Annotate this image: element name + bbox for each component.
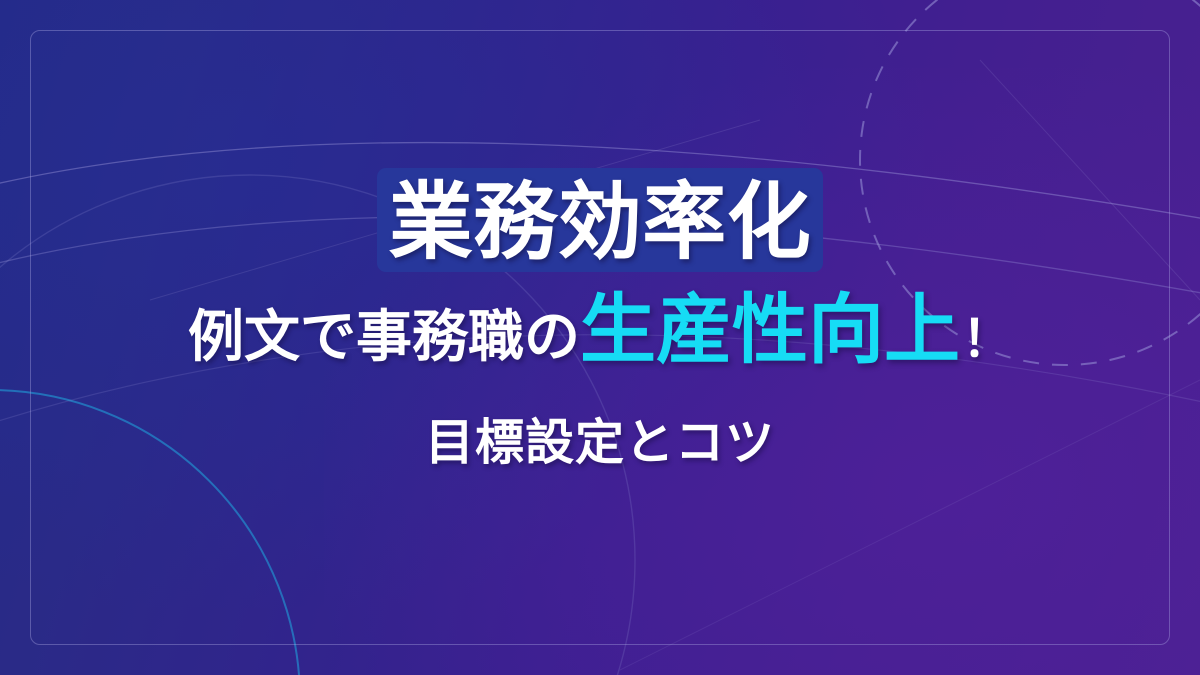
- headline-badge: 業務効率化: [377, 168, 824, 272]
- headline-secondary-exclamation: ！: [962, 314, 1012, 364]
- headline-primary-text: 業務効率化: [389, 180, 812, 264]
- title-block: 業務効率化 例文で事務職の 生産性向上 ！ 目標設定とコツ: [0, 0, 1200, 675]
- headline-secondary-row: 例文で事務職の 生産性向上 ！: [188, 292, 1012, 368]
- headline-secondary-highlight-text: 生産性向上: [580, 292, 960, 368]
- headline-secondary-white-text: 例文で事務職の: [188, 310, 580, 366]
- headline-subtitle-text: 目標設定とコツ: [425, 418, 775, 467]
- headline-badge-row: 業務効率化: [377, 168, 824, 272]
- thumbnail-canvas: 業務効率化 例文で事務職の 生産性向上 ！ 目標設定とコツ: [0, 0, 1200, 675]
